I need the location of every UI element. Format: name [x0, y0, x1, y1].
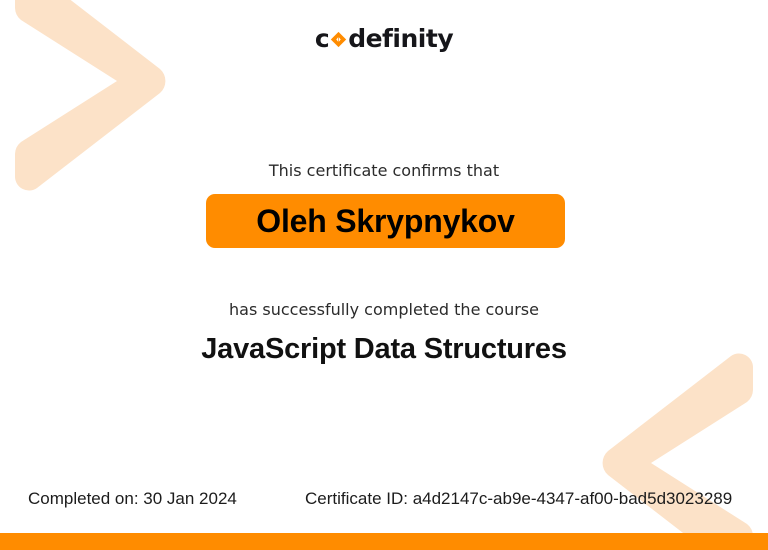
- recipient-name: Oleh Skrypnykov: [256, 203, 514, 240]
- certificate-id-label: Certificate ID: a4d2147c-ab9e-4347-af00-…: [305, 489, 732, 509]
- intro-line: This certificate confirms that: [0, 161, 768, 180]
- completion-line: has successfully completed the course: [0, 300, 768, 319]
- bottom-accent-bar: [0, 533, 768, 550]
- completed-on-label: Completed on: 30 Jan 2024: [28, 489, 237, 509]
- course-title: JavaScript Data Structures: [0, 333, 768, 366]
- recipient-name-badge: Oleh Skrypnykov: [206, 194, 565, 248]
- certificate-content: This certificate confirms that Oleh Skry…: [0, 0, 768, 550]
- certificate-page: c definity This certificate confirms tha…: [0, 0, 768, 550]
